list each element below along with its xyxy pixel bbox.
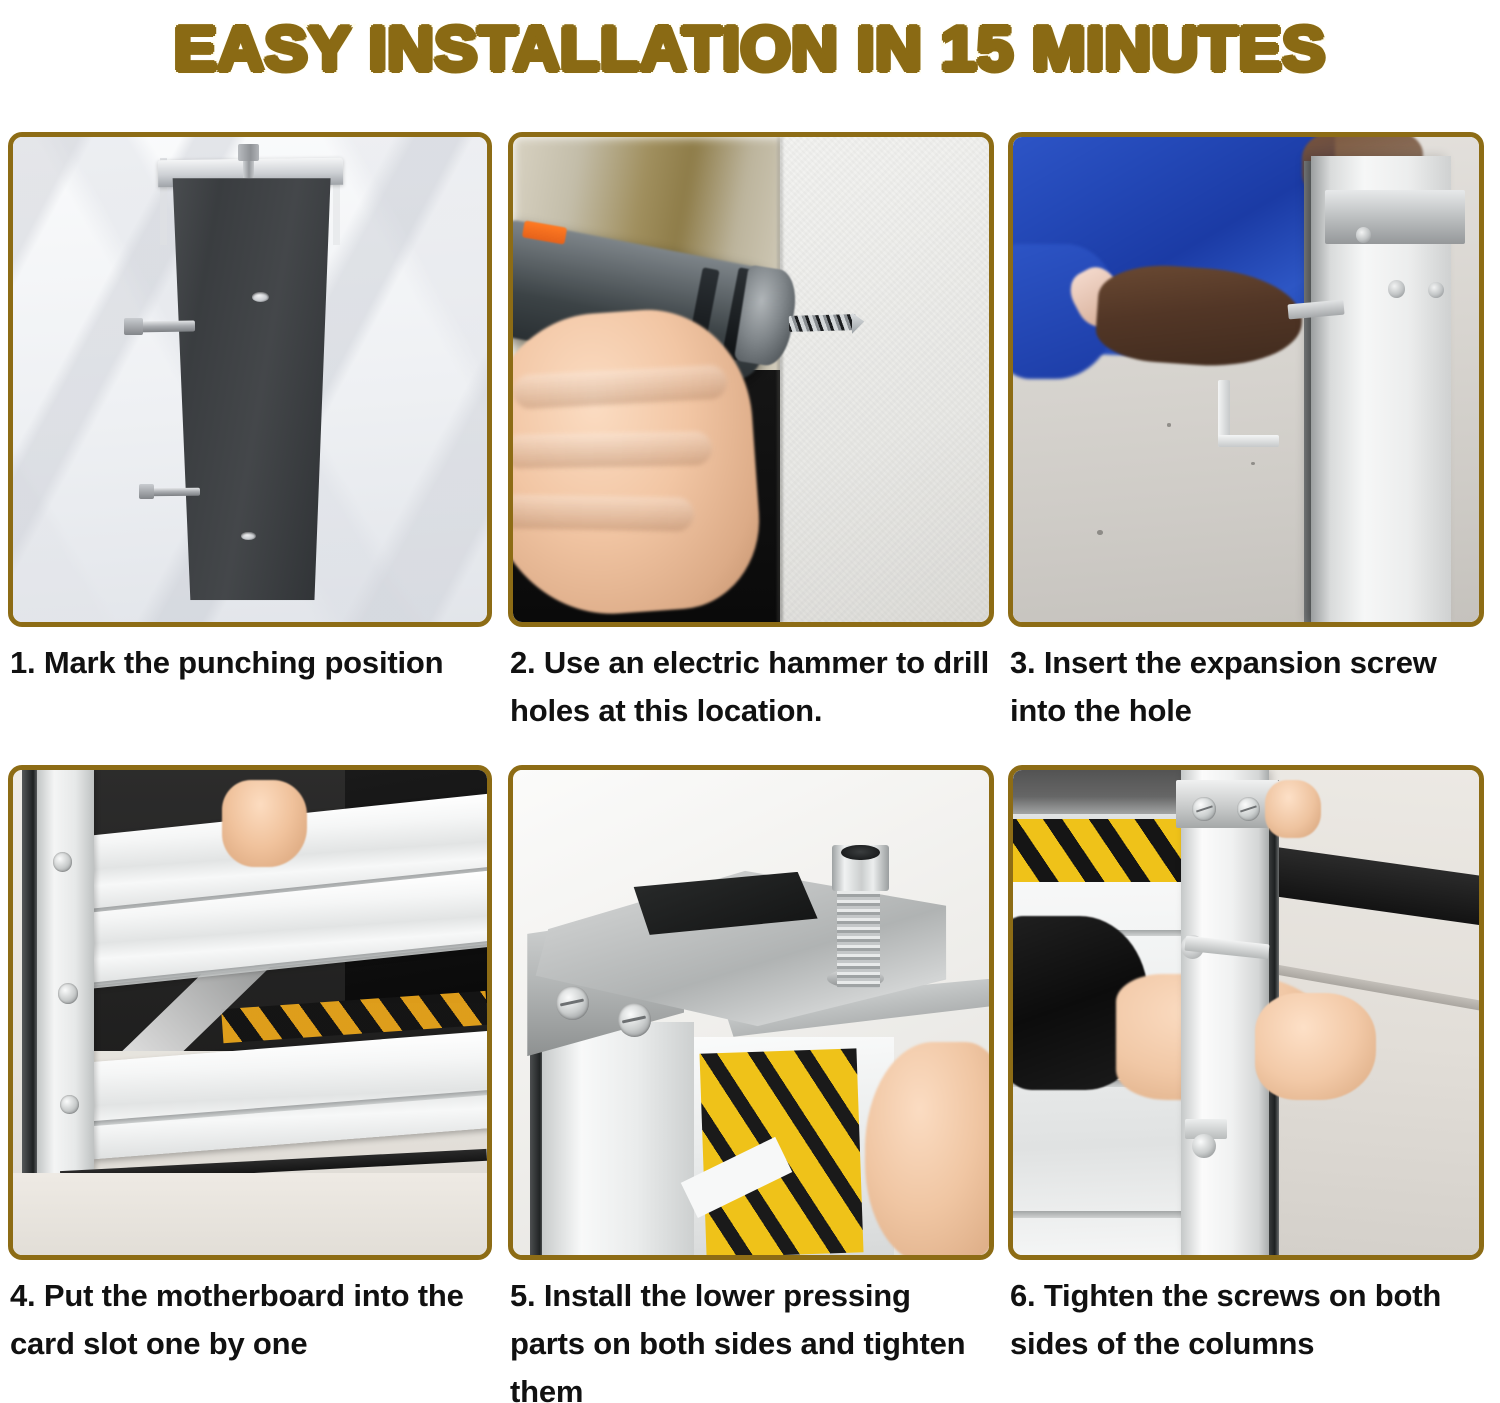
step-photo-4 bbox=[13, 770, 487, 1255]
page-title: EASY INSTALLATION IN 15 MINUTES bbox=[174, 16, 1326, 84]
panel-groove-3 bbox=[1013, 1211, 1185, 1217]
post-shadow-edge bbox=[22, 770, 37, 1177]
lower-column-screw bbox=[1192, 1134, 1215, 1158]
step-photo-2 bbox=[513, 137, 989, 622]
post-screw-b bbox=[58, 983, 78, 1003]
column-screw-a bbox=[1192, 797, 1215, 821]
finger-3 bbox=[513, 494, 694, 531]
step-photo-frame-4 bbox=[8, 765, 492, 1260]
column-top-cap bbox=[1176, 780, 1279, 829]
step-photo-5 bbox=[513, 770, 989, 1255]
hex-key-short-arm bbox=[1218, 435, 1279, 447]
step-card-2: 2. Use an electric hammer to drill holes… bbox=[508, 132, 994, 627]
bolt-head-upper bbox=[124, 318, 143, 335]
installer-hand bbox=[865, 1042, 989, 1255]
steps-grid: 1. Mark the punching position bbox=[0, 100, 1500, 1403]
top-stud-head bbox=[238, 144, 259, 161]
header-banner: EASY INSTALLATION IN 15 MINUTES bbox=[0, 0, 1500, 100]
bracket-screw-a bbox=[556, 986, 589, 1020]
step-photo-frame-5 bbox=[508, 765, 994, 1260]
step-photo-1 bbox=[13, 137, 487, 622]
step-caption-4: 4. Put the motherboard into the card slo… bbox=[10, 1272, 489, 1368]
step-photo-3 bbox=[1013, 137, 1479, 622]
white-wall bbox=[780, 137, 989, 622]
floor-speck-b bbox=[1097, 530, 1104, 535]
step-caption-1: 1. Mark the punching position bbox=[10, 639, 489, 687]
column-top-bracket bbox=[1325, 190, 1465, 243]
floor-surface bbox=[13, 1173, 487, 1255]
step-photo-frame-6 bbox=[1008, 765, 1484, 1260]
step-caption-5: 5. Install the lower pressing parts on b… bbox=[510, 1272, 991, 1403]
step-photo-frame-3 bbox=[1008, 132, 1484, 627]
white-column bbox=[1181, 770, 1270, 1255]
step-caption-2: 2. Use an electric hammer to drill holes… bbox=[510, 639, 991, 735]
step-photo-frame-2 bbox=[508, 132, 994, 627]
post-screw-a bbox=[53, 852, 72, 871]
marking-hole-lower bbox=[241, 532, 256, 540]
white-column bbox=[542, 1022, 694, 1255]
bolt-hex-socket bbox=[841, 845, 879, 861]
column-screw-b bbox=[1237, 797, 1260, 821]
hazard-stripe-band bbox=[1013, 814, 1185, 882]
step-photo-6 bbox=[1013, 770, 1479, 1255]
expansion-screw-b bbox=[1388, 280, 1405, 297]
bolt-head-lower bbox=[139, 484, 154, 499]
expansion-screw-c bbox=[1428, 282, 1444, 298]
installer-hand bbox=[1255, 993, 1376, 1100]
step-card-5: 5. Install the lower pressing parts on b… bbox=[508, 765, 994, 1260]
installer-hand bbox=[222, 780, 307, 867]
masonry-drill-bit bbox=[789, 314, 856, 332]
step-caption-6: 6. Tighten the screws on both sides of t… bbox=[1010, 1272, 1481, 1368]
step-card-3: 3. Insert the expansion screw into the h… bbox=[1008, 132, 1484, 627]
step-card-6: 6. Tighten the screws on both sides of t… bbox=[1008, 765, 1484, 1260]
step-photo-frame-1 bbox=[8, 132, 492, 627]
finger-2 bbox=[513, 431, 713, 469]
bracket-screw-b bbox=[618, 1003, 651, 1037]
infographic-page: EASY INSTALLATION IN 15 MINUTES bbox=[0, 0, 1500, 1403]
step-card-4: 4. Put the motherboard into the card slo… bbox=[8, 765, 492, 1260]
pressing-bolt-thread bbox=[837, 882, 880, 989]
step-caption-3: 3. Insert the expansion screw into the h… bbox=[1010, 639, 1481, 735]
dark-upper-shadow bbox=[1013, 770, 1181, 814]
upper-hand bbox=[1265, 780, 1321, 838]
step-card-1: 1. Mark the punching position bbox=[8, 132, 492, 627]
